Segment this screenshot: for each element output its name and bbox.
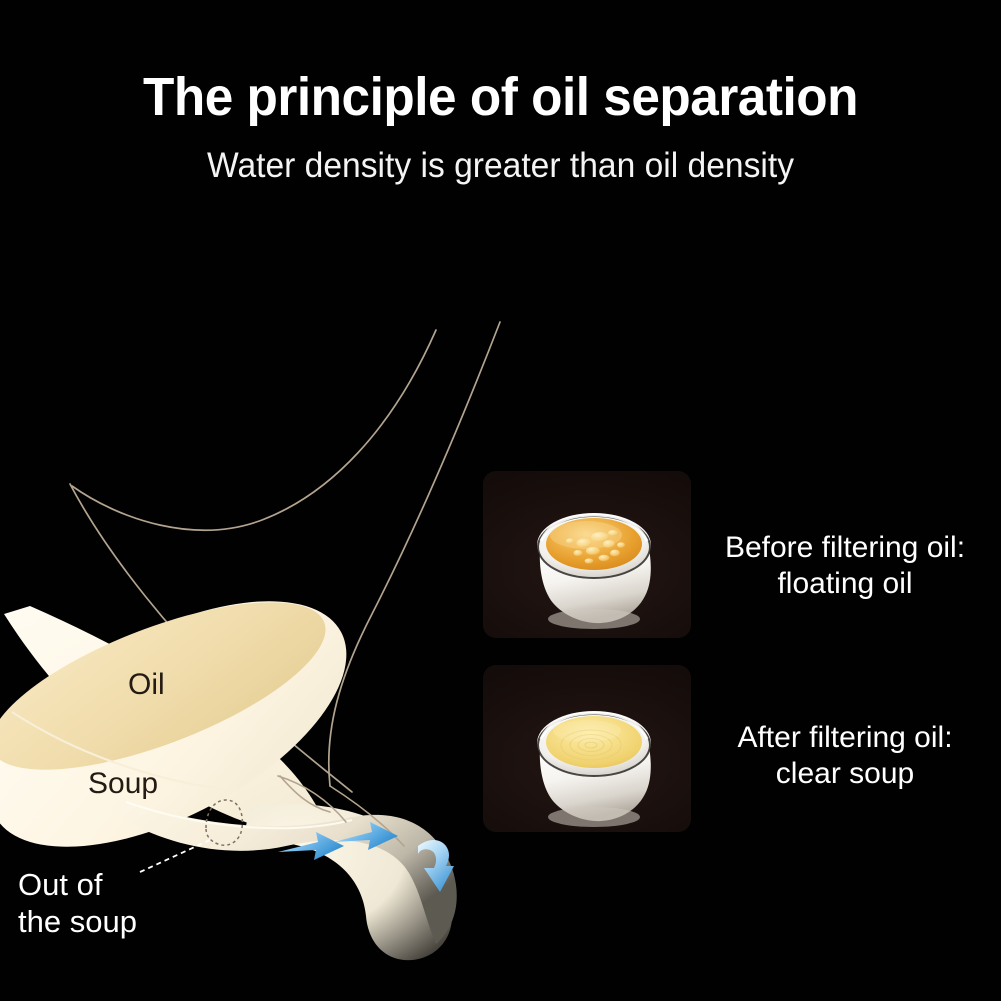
out-of-soup-line-2: the soup [18,904,137,939]
caption-before-line-1: Before filtering oil: [700,530,990,566]
out-of-soup-line-1: Out of [18,867,102,902]
diagram-label-out-of-soup: Out of the soup [18,866,137,940]
photo-panel-before-filtering [483,471,691,638]
infographic-canvas: The principle of oil separation Water de… [0,0,1001,1001]
diagram-label-oil: Oil [128,668,165,702]
caption-after-line-1: After filtering oil: [700,720,990,756]
caption-after-line-2: clear soup [700,756,990,792]
diagram-label-soup: Soup [88,767,158,801]
bowl-photo-clear-soup [483,665,691,832]
leader-line-out-of-soup [140,840,210,872]
bowl-photo-floating-oil [483,471,691,638]
caption-after-filtering: After filtering oil: clear soup [700,720,990,792]
caption-before-line-2: floating oil [700,566,990,602]
photo-panel-after-filtering [483,665,691,832]
caption-before-filtering: Before filtering oil: floating oil [700,530,990,602]
